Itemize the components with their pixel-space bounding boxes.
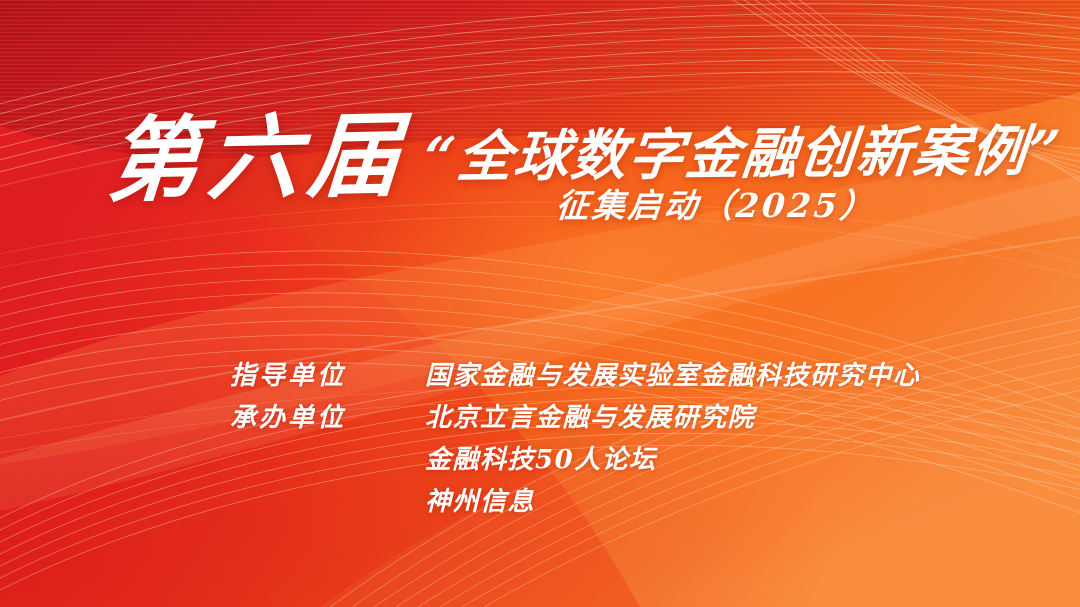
page-title-quoted: “全球数字金融创新案例”: [421, 123, 1064, 185]
credits-block: 指导单位 国家金融与发展实验室金融科技研究中心 承办单位 北京立言金融与发展研究…: [230, 360, 990, 528]
poster-content: 第六届 “全球数字金融创新案例” 征集启动（2025） 指导单位 国家金融与发展…: [0, 0, 1080, 607]
page-subtitle: 征集启动（2025）: [555, 189, 878, 222]
credit-value: 国家金融与发展实验室金融科技研究中心: [425, 360, 920, 392]
poster-canvas: 第六届 “全球数字金融创新案例” 征集启动（2025） 指导单位 国家金融与发展…: [0, 0, 1080, 607]
title-row: 第六届 “全球数字金融创新案例”: [0, 112, 1080, 220]
credit-row: 金融科技50人论坛: [230, 444, 990, 486]
credit-value: 神州信息: [425, 486, 535, 518]
credit-label: 指导单位: [230, 360, 346, 392]
page-title-main: 第六届: [105, 107, 412, 210]
credit-row: 承办单位 北京立言金融与发展研究院: [230, 402, 990, 444]
credit-row: 指导单位 国家金融与发展实验室金融科技研究中心: [230, 360, 990, 402]
credit-value: 北京立言金融与发展研究院: [425, 402, 755, 434]
credit-label: 承办单位: [230, 402, 346, 434]
credit-row: 神州信息: [230, 486, 990, 528]
credit-value: 金融科技50人论坛: [425, 444, 657, 476]
